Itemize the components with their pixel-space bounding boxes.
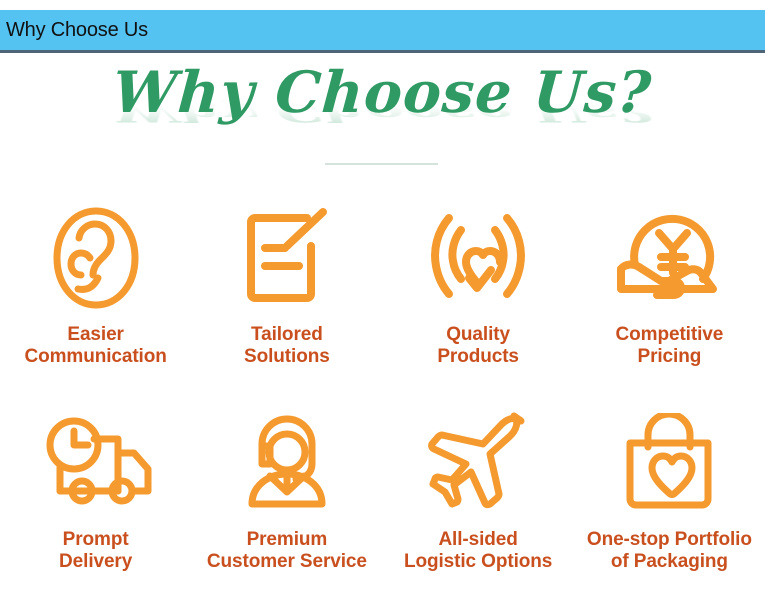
hero-divider: [325, 163, 438, 165]
hero-title-reflection: Why Choose Us?: [0, 97, 765, 128]
feature-label: Prompt Delivery: [59, 529, 132, 573]
headset-agent-icon: [234, 401, 340, 525]
feature-item-all-sided-logistic-options[interactable]: All-sided Logistic Options: [383, 401, 574, 601]
feature-label: Tailored Solutions: [244, 324, 330, 368]
feature-label: One-stop Portfolio of Packaging: [587, 529, 752, 573]
feature-grid: Easier Communication Tailored Solutions: [0, 196, 765, 601]
feature-item-premium-customer-service[interactable]: Premium Customer Service: [191, 401, 382, 601]
feature-label: Premium Customer Service: [207, 529, 367, 573]
hero-banner: Why Choose Us? Why Choose Us?: [0, 56, 765, 176]
feature-item-competitive-pricing[interactable]: Competitive Pricing: [574, 196, 765, 401]
ear-listening-icon: [48, 196, 144, 320]
feature-item-tailored-solutions[interactable]: Tailored Solutions: [191, 196, 382, 401]
feature-label: Quality Products: [437, 324, 519, 368]
page-header-bar: Why Choose Us: [0, 10, 765, 53]
feature-label: Competitive Pricing: [616, 324, 724, 368]
feature-item-prompt-delivery[interactable]: Prompt Delivery: [0, 401, 191, 601]
feature-item-quality-products[interactable]: Quality Products: [383, 196, 574, 401]
feature-item-easier-communication[interactable]: Easier Communication: [0, 196, 191, 401]
shopping-bag-heart-icon: [618, 401, 720, 525]
feature-item-one-stop-portfolio-of-packaging[interactable]: One-stop Portfolio of Packaging: [574, 401, 765, 601]
airplane-icon: [425, 401, 531, 525]
page-title: Why Choose Us: [0, 20, 148, 40]
delivery-truck-clock-icon: [38, 401, 154, 525]
feature-label: Easier Communication: [24, 324, 166, 368]
hand-yen-coin-icon: [613, 196, 725, 320]
heart-signal-check-icon: [423, 196, 533, 320]
feature-label: All-sided Logistic Options: [404, 529, 552, 573]
document-pencil-icon: [235, 196, 339, 320]
hero-title-wrap: Why Choose Us? Why Choose Us?: [0, 56, 765, 130]
